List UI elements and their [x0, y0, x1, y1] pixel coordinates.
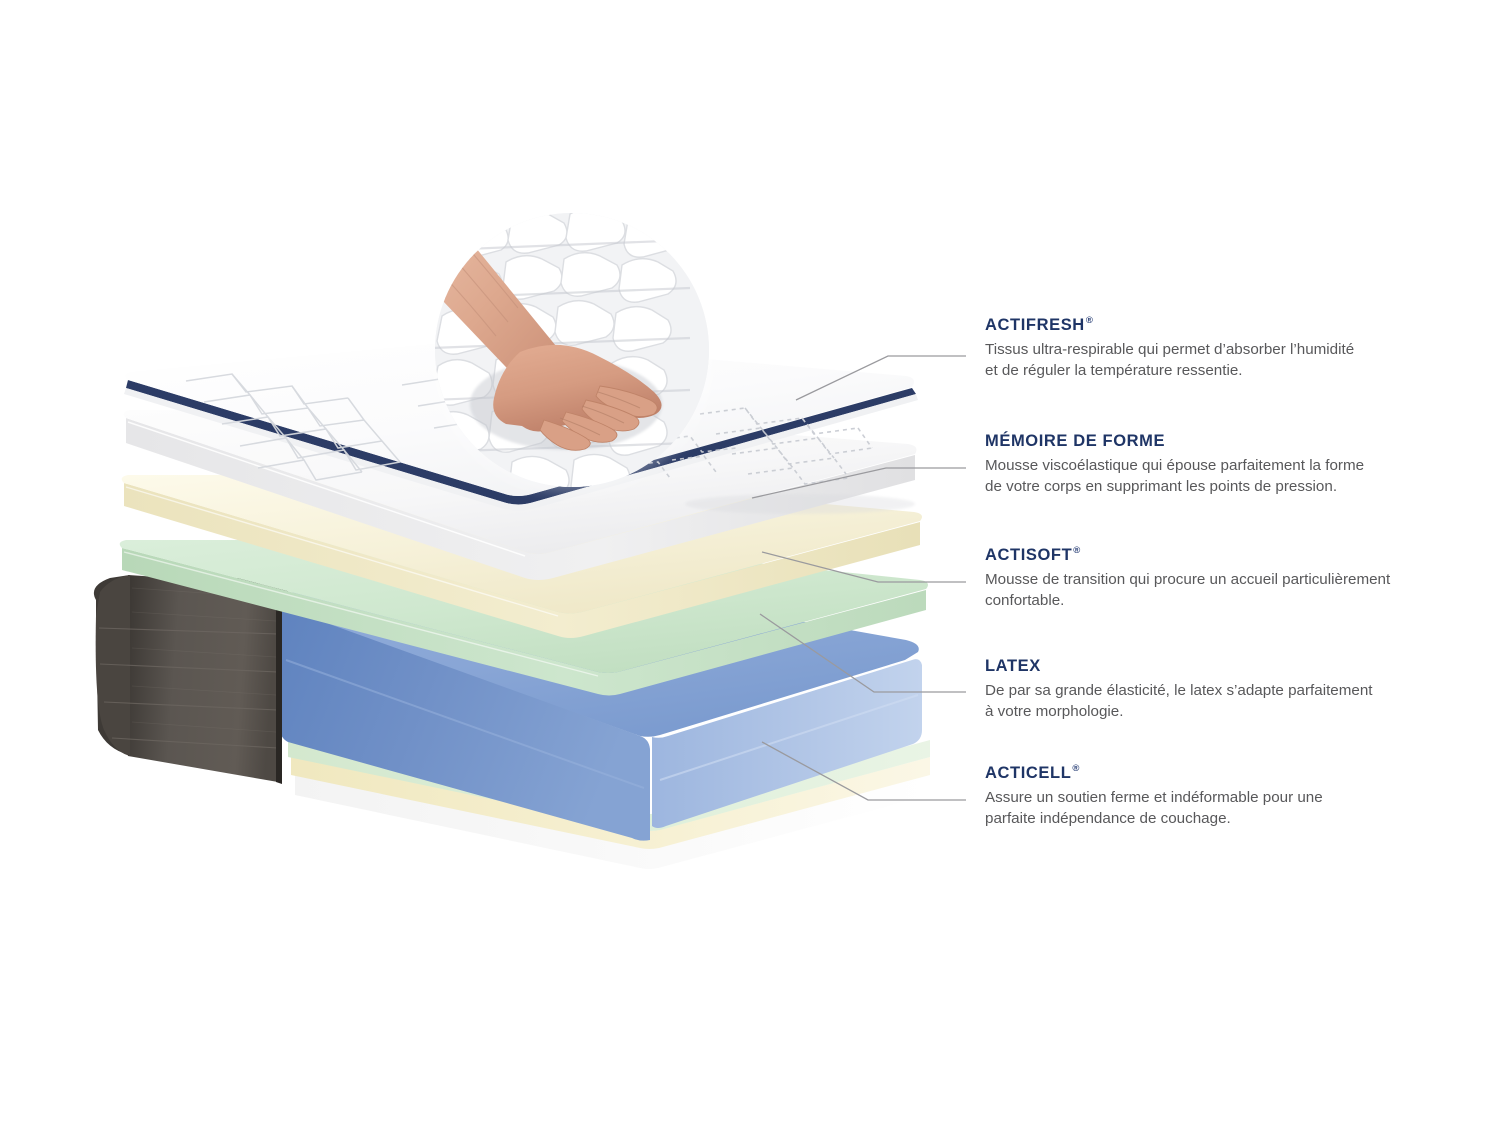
- callout-body-acticell: Assure un soutien ferme et indéformable …: [985, 788, 1415, 830]
- registered-mark-icon: ®: [1086, 315, 1094, 326]
- callout-title-memoire-de-forme: MÉMOIRE DE FORME: [985, 432, 1415, 451]
- cover-dropshadow: [685, 494, 915, 514]
- callout-body-actisoft: Mousse de transition qui procure un accu…: [985, 570, 1415, 612]
- dark-fabric-side-panel: [94, 575, 288, 784]
- callout-body-actifresh: Tissus ultra-respirable qui permet d’abs…: [985, 340, 1415, 382]
- callout-acticell: ACTICELL® Assure un soutien ferme et ind…: [985, 764, 1415, 830]
- mattress-layers-diagram: ACTIFRESH® Tissus ultra-respirable qui p…: [0, 0, 1500, 1125]
- callout-title-acticell: ACTICELL®: [985, 764, 1415, 783]
- callout-latex: LATEX De par sa grande élasticité, le la…: [985, 657, 1415, 723]
- callout-body-memoire-de-forme: Mousse viscoélastique qui épouse parfait…: [985, 456, 1415, 498]
- callout-memoire-de-forme: MÉMOIRE DE FORME Mousse viscoélastique q…: [985, 432, 1415, 498]
- registered-mark-icon: ®: [1072, 763, 1080, 774]
- fabric-panel-face: [128, 575, 278, 782]
- callout-actifresh: ACTIFRESH® Tissus ultra-respirable qui p…: [985, 316, 1415, 382]
- callout-title-actifresh: ACTIFRESH®: [985, 316, 1415, 335]
- registered-mark-icon: ®: [1073, 545, 1081, 556]
- callout-title-actisoft: ACTISOFT®: [985, 546, 1415, 565]
- callout-body-latex: De par sa grande élasticité, le latex s’…: [985, 681, 1415, 723]
- callout-actisoft: ACTISOFT® Mousse de transition qui procu…: [985, 546, 1415, 612]
- fabric-panel-cut-edge: [276, 585, 282, 784]
- callout-title-latex: LATEX: [985, 657, 1415, 676]
